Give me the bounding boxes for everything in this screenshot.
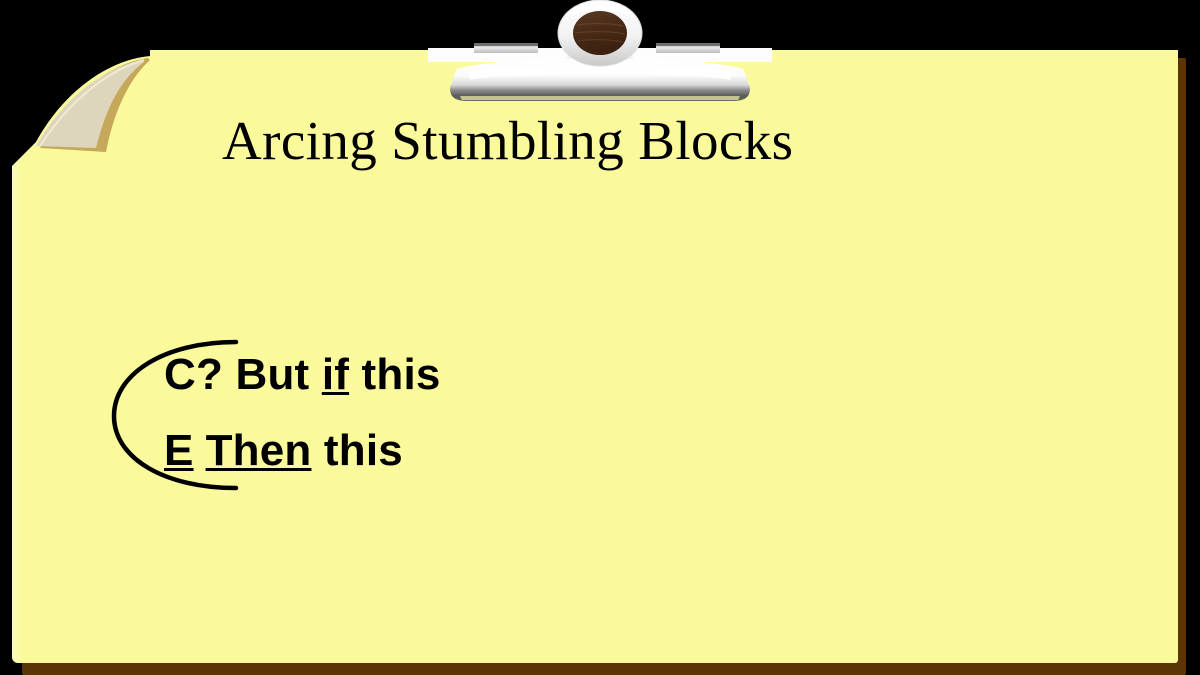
line2-label: E <box>164 426 194 475</box>
body-line-1: C? But if this <box>164 350 441 400</box>
line2-emphasis: Then <box>206 426 312 475</box>
line2-suffix: this <box>311 426 402 475</box>
slide-canvas: Arcing Stumbling Blocks C? But if this E… <box>0 0 1200 675</box>
body-line-2: EThen this <box>164 426 403 476</box>
line1-emphasis: if <box>322 350 349 399</box>
body-block: C? But if this EThen this <box>108 336 668 496</box>
line1-suffix: this <box>349 350 440 399</box>
bulldog-clip-icon <box>420 0 780 108</box>
line1-prefix: C? But <box>164 350 322 399</box>
page-title: Arcing Stumbling Blocks <box>222 112 1042 170</box>
